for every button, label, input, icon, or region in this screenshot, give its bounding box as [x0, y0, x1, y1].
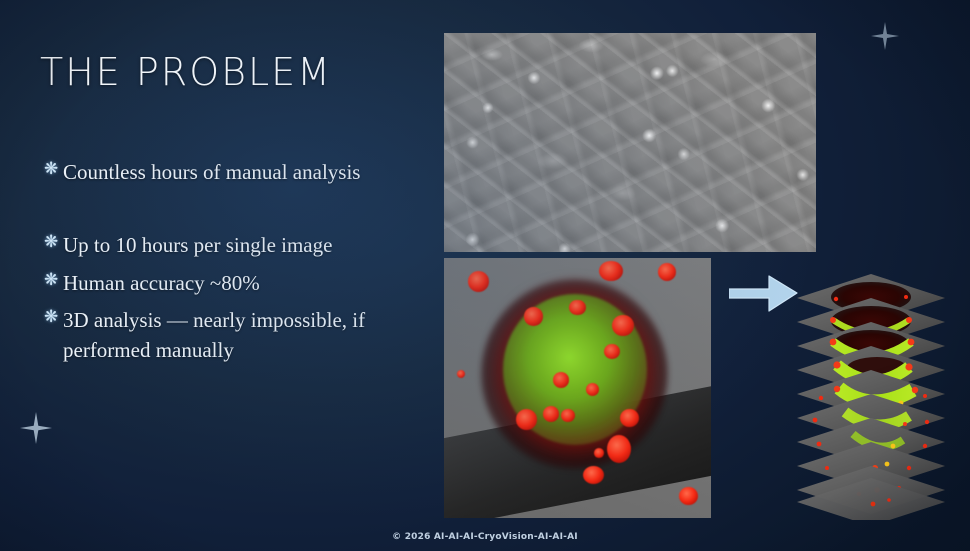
red-punctum [620, 409, 639, 427]
red-punctum [516, 409, 537, 430]
snowflake-bullet-icon: ❋ [44, 269, 63, 292]
confocal-z-stack [793, 272, 949, 520]
list-item-label: 3D analysis — nearly impossible, if perf… [63, 306, 434, 365]
red-punctum [599, 261, 623, 282]
snowflake-bullet-icon: ❋ [44, 231, 63, 254]
list-item: ❋ Up to 10 hours per single image [44, 231, 434, 260]
list-item: ❋ Human accuracy ~80% [44, 269, 434, 298]
fluorescence-micrograph [444, 258, 711, 518]
footer-copyright: © 2026 AI-AI-AI-CryoVision-AI-AI-AI [0, 532, 970, 542]
red-punctum [569, 300, 585, 316]
red-punctum [586, 383, 599, 396]
snowflake-bullet-icon: ❋ [44, 306, 63, 329]
list-item: ❋ Countless hours of manual analysis [44, 158, 434, 187]
sparkle-star-icon [871, 22, 899, 50]
phase-contrast-cell-culture-image [444, 33, 816, 252]
list-item-label: Up to 10 hours per single image [63, 231, 434, 260]
list-item-label: Countless hours of manual analysis [63, 158, 434, 187]
red-punctum [607, 435, 631, 464]
red-punctum [612, 315, 633, 336]
list-item: ❋ 3D analysis — nearly impossible, if pe… [44, 306, 434, 365]
list-item-label: Human accuracy ~80% [63, 269, 434, 298]
red-punctum [679, 487, 698, 505]
bullet-list: ❋ Countless hours of manual analysis ❋ U… [44, 158, 434, 365]
red-punctum [457, 370, 465, 378]
sparkle-star-icon [20, 412, 52, 444]
red-punctum [561, 409, 574, 422]
flow-arrow-icon [729, 272, 799, 314]
red-punctum [468, 271, 489, 292]
phase-contrast-texture [444, 33, 816, 252]
page-title: THE PROBLEM [40, 50, 332, 94]
slide-canvas: THE PROBLEM ❋ Countless hours of manual … [0, 0, 970, 551]
red-punctum [524, 307, 543, 325]
red-punctum [543, 406, 559, 422]
snowflake-bullet-icon: ❋ [44, 158, 63, 181]
